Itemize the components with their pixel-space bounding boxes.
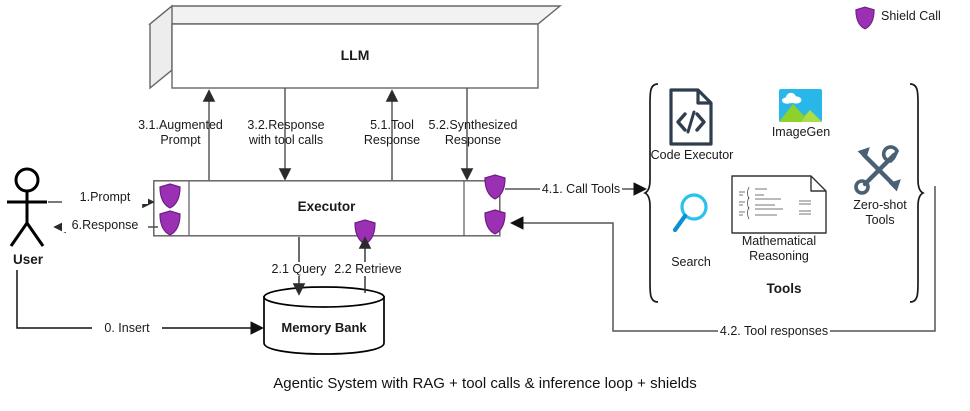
edge-label-retrieve: 2.2 Retrieve [332, 262, 404, 276]
tool-code-executor[interactable] [668, 88, 714, 146]
executor-label: Executor [189, 200, 464, 214]
executor-node[interactable]: Executor [153, 180, 501, 237]
diagram-caption: Agentic System with RAG + tool calls & i… [0, 375, 970, 392]
edge-label-tool-response: 5.1.Tool Response [348, 118, 436, 147]
shield-executor-out-right [484, 174, 506, 200]
edge-label-insert: 0. Insert [92, 321, 162, 335]
shield-executor-in-right [484, 209, 506, 235]
edge-label-synthesized-response: 5.2.Synthesized Response [424, 118, 522, 147]
tool-image-gen[interactable] [779, 89, 822, 122]
augmented-prompt-line1: 3.1.Augmented [138, 118, 223, 133]
user-stick-figure-icon [4, 168, 54, 248]
shield-executor-out-left [159, 210, 181, 236]
image-icon [779, 89, 822, 122]
tool-response-line1: 5.1.Tool [348, 118, 436, 133]
user-label: User [0, 253, 56, 267]
edge-label-tool-responses: 4.2. Tool responses [718, 324, 830, 338]
llm-label: LLM [172, 48, 538, 62]
synthesized-line1: 5.2.Synthesized [424, 118, 522, 133]
shield-executor-in-left [159, 183, 181, 209]
edge-label-augmented-prompt: 3.1.Augmented Prompt [138, 118, 223, 147]
edge-label-response-tool-calls: 3.2.Response with tool calls [235, 118, 337, 147]
tool-responses-edge [505, 186, 945, 336]
legend-shield-call [855, 6, 875, 30]
edge-label-query: 2.1 Query [268, 262, 330, 276]
response-tool-calls-line2: with tool calls [235, 133, 337, 148]
shield-icon [855, 6, 875, 30]
tool-response-line2: Response [348, 133, 436, 148]
code-document-icon [668, 88, 714, 146]
response-tool-calls-line1: 3.2.Response [235, 118, 337, 133]
edge-label-response: 6.Response [62, 218, 148, 232]
synthesized-line2: Response [424, 133, 522, 148]
legend-shield-label: Shield Call [881, 9, 961, 23]
llm-node[interactable]: LLM [150, 4, 560, 90]
memory-bank-label: Memory Bank [263, 321, 385, 335]
user-node[interactable] [4, 168, 54, 248]
edge-label-prompt: 1.Prompt [62, 190, 148, 204]
tool-code-executor-label: Code Executor [650, 148, 734, 162]
augmented-prompt-line2: Prompt [138, 133, 223, 148]
tool-image-gen-label: ImageGen [762, 125, 840, 139]
